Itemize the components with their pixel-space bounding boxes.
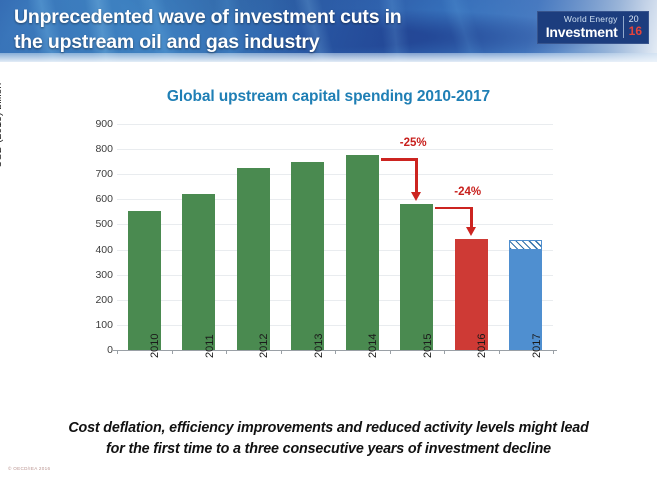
- x-axis-tick: [226, 350, 227, 354]
- y-axis-tick-label: 700: [95, 169, 113, 180]
- wei-logo-divider: [623, 16, 624, 38]
- x-axis-tick: [553, 350, 554, 354]
- x-axis-label-2011: 2011: [204, 334, 216, 358]
- annotation-label-minus24pct: -24%: [454, 186, 481, 198]
- caption-line1: Cost deflation, efficiency improvements …: [18, 418, 639, 439]
- y-axis-tick-label: 600: [95, 194, 113, 205]
- x-axis-label-2010: 2010: [149, 334, 161, 358]
- page-title-line1: Unprecedented wave of investment cuts in: [14, 5, 514, 30]
- annotation-arrow-horizontal: [381, 158, 417, 161]
- x-axis-label-2014: 2014: [367, 334, 379, 358]
- annotation-arrow-horizontal: [435, 207, 471, 210]
- x-axis-tick: [281, 350, 282, 354]
- bar-hatch-2017: [509, 240, 542, 250]
- page-title-line2: the upstream oil and gas industry: [14, 30, 514, 55]
- x-axis-tick: [172, 350, 173, 354]
- annotation-arrow-vertical: [415, 158, 418, 192]
- wei-logo: World Energy Investment 20 16: [537, 11, 649, 44]
- annotation-arrow-head: [466, 227, 476, 236]
- x-axis-tick: [335, 350, 336, 354]
- y-axis-tick-label: 200: [95, 295, 113, 306]
- caption-line2: for the first time to a three consecutiv…: [18, 439, 639, 460]
- x-axis-tick: [499, 350, 500, 354]
- x-axis-label-2012: 2012: [258, 334, 270, 358]
- y-axis-tick-label: 100: [95, 320, 113, 331]
- y-axis-tick-label: 800: [95, 144, 113, 155]
- bar-2012: [237, 168, 270, 350]
- wei-logo-year-bottom: 16: [629, 25, 642, 38]
- x-axis-label-2016: 2016: [476, 334, 488, 358]
- wei-logo-investment: Investment: [546, 25, 618, 39]
- bar-2010: [128, 211, 161, 350]
- x-axis-label-2013: 2013: [313, 334, 325, 358]
- bar-2014: [346, 155, 379, 350]
- wei-logo-text: World Energy Investment: [546, 15, 618, 39]
- x-axis-tick: [444, 350, 445, 354]
- chart-plot-area: -25%-24%: [117, 124, 553, 350]
- annotation-arrow-head: [411, 192, 421, 201]
- x-axis-tick: [390, 350, 391, 354]
- y-axis-tick-labels: 9008007006005004003002001000: [81, 118, 113, 356]
- y-axis-tick-label: 400: [95, 245, 113, 256]
- annotation-arrow-vertical: [470, 207, 473, 228]
- page-title: Unprecedented wave of investment cuts in…: [14, 5, 514, 55]
- y-axis-tick-label: 900: [95, 119, 113, 130]
- header-banner: Unprecedented wave of investment cuts in…: [0, 0, 657, 62]
- gridline: [117, 174, 553, 175]
- gridline: [117, 124, 553, 125]
- bar-2011: [182, 194, 215, 350]
- y-axis-tick-label: 300: [95, 270, 113, 281]
- chart-caption: Cost deflation, efficiency improvements …: [18, 418, 639, 460]
- bar-2013: [291, 162, 324, 350]
- y-axis-title: USD (2015) billion: [0, 83, 4, 168]
- bar-2015: [400, 204, 433, 350]
- x-axis-label-2017: 2017: [531, 334, 543, 358]
- x-axis-tick: [117, 350, 118, 354]
- y-axis-tick-label: 500: [95, 219, 113, 230]
- chart-title: Global upstream capital spending 2010-20…: [0, 88, 657, 106]
- wei-logo-year: 20 16: [629, 15, 642, 38]
- gridline: [117, 149, 553, 150]
- annotation-label-minus25pct: -25%: [400, 137, 427, 149]
- copyright-notice: © OECD/IEA 2016: [8, 466, 50, 471]
- wei-logo-world-energy: World Energy: [564, 15, 618, 24]
- x-axis-label-2015: 2015: [422, 334, 434, 358]
